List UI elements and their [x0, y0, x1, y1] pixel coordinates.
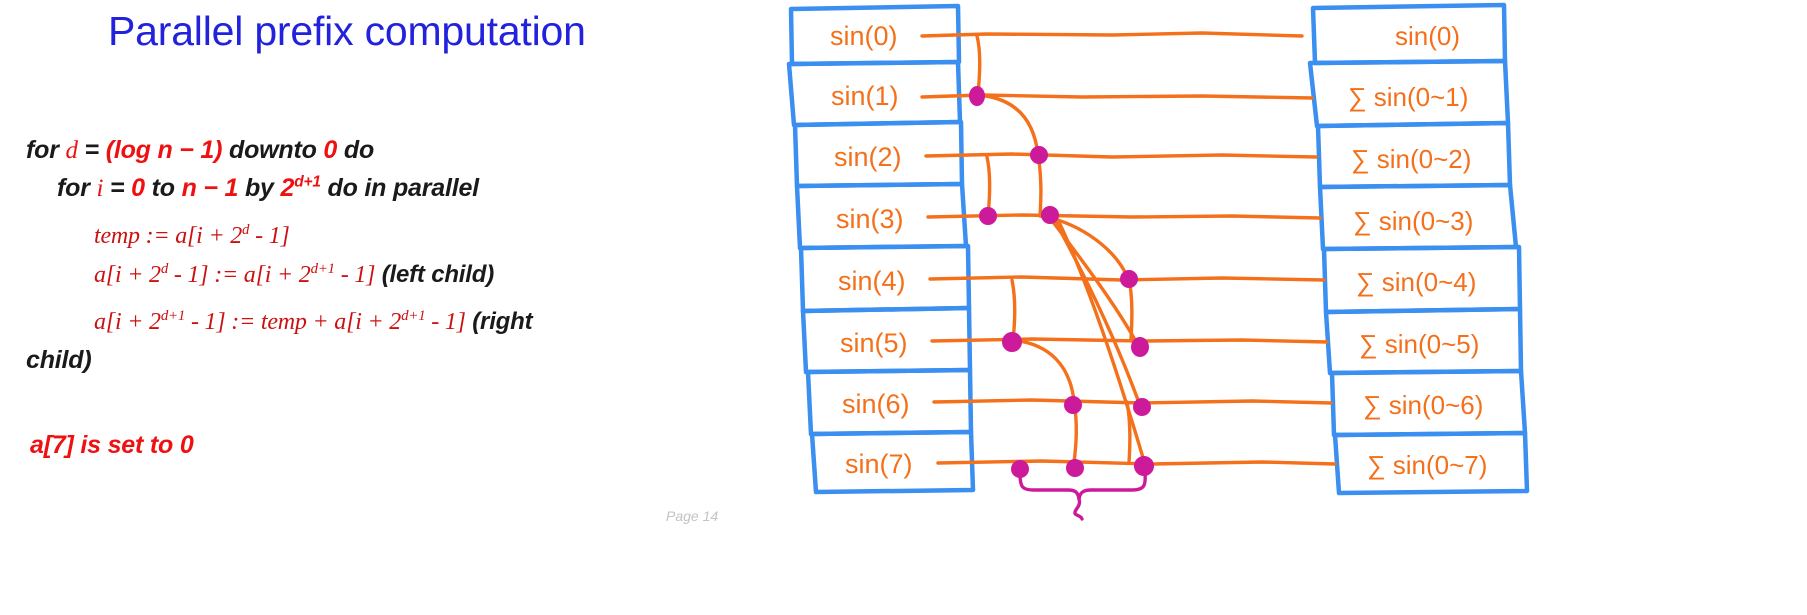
stmt-left-b: - 1] := a[i + 2 — [168, 262, 311, 288]
right-label-2: ∑ sin(0~2) — [1351, 144, 1471, 174]
page-number: Page 14 — [666, 508, 718, 524]
right-label-4: ∑ sin(0~4) — [1356, 267, 1476, 297]
right-label-5: ∑ sin(0~5) — [1359, 329, 1479, 359]
kw-downto: downto — [222, 136, 323, 164]
brace-tail — [1075, 499, 1082, 519]
pseudocode-line-7: a[7] is set to 0 — [30, 431, 194, 460]
junction-node-r6b — [1134, 399, 1150, 415]
left-label-6: sin(6) — [842, 389, 910, 419]
junction-nodes — [970, 87, 1153, 477]
magenta-brace — [1020, 473, 1145, 519]
junction-node-r5b — [1132, 338, 1148, 356]
wire-link-1to2span — [978, 95, 1038, 155]
left-label-0: sin(0) — [830, 21, 898, 51]
junction-node-r5a — [1003, 333, 1021, 351]
slide-canvas: Parallel prefix computation for d = (log… — [0, 0, 1807, 615]
kw-do-in-parallel: do in parallel — [321, 174, 479, 202]
exp-d-plus-1-a: d+1 — [294, 174, 321, 191]
kw-for: for — [26, 136, 65, 164]
left-label-1: sin(1) — [831, 81, 899, 111]
wire-link-4to5 — [1012, 280, 1015, 340]
lit-zero-1: 0 — [323, 136, 337, 164]
left-label-7: sin(7) — [845, 449, 913, 479]
pseudocode-line-2: for i = 0 to n − 1 by 2d+1 do in paralle… — [57, 174, 479, 203]
prefix-sum-diagram: sin(0) sin(1) sin(2) sin(3) sin(4) sin(5… — [782, 0, 1807, 615]
eq-2: = — [103, 174, 131, 202]
wire-link-3to4 — [1040, 216, 1127, 276]
junction-node-r6a — [1065, 397, 1081, 413]
left-label-3: sin(3) — [836, 204, 904, 234]
expr-n-minus-1: n − 1 — [182, 174, 239, 202]
stmt-left-a: a[i + 2 — [94, 262, 161, 288]
lit-two-1: 2 — [281, 174, 295, 202]
stmt-right-c: - 1] — [425, 309, 465, 335]
stmt-right-a: a[i + 2 — [94, 309, 161, 335]
lit-zero-2: 0 — [131, 174, 145, 202]
note-left-child: (left child) — [375, 261, 494, 288]
junction-node-r4a — [1121, 271, 1137, 287]
exp-d-plus-1-c: d+1 — [161, 308, 185, 324]
exp-d-plus-1-d: d+1 — [401, 308, 425, 324]
exp-d-b: d — [161, 261, 168, 277]
right-label-7: ∑ sin(0~7) — [1367, 450, 1487, 480]
right-label-3: ∑ sin(0~3) — [1353, 206, 1473, 236]
left-array-boxes — [789, 6, 973, 492]
left-label-5: sin(5) — [840, 328, 908, 358]
page-title: Parallel prefix computation — [108, 8, 586, 55]
stmt-right-b: - 1] := temp + a[i + 2 — [185, 309, 401, 335]
pseudocode-line-5: a[i + 2d+1 - 1] := temp + a[i + 2d+1 - 1… — [94, 308, 532, 336]
wire-link-5to6span — [1013, 340, 1074, 401]
right-label-0: sin(0) — [1395, 21, 1460, 51]
junction-node-r7b — [1067, 460, 1083, 476]
right-label-6: ∑ sin(0~6) — [1363, 390, 1483, 420]
pseudocode-line-3: temp := a[i + 2d - 1] — [94, 223, 290, 250]
wire-row-2 — [926, 154, 1316, 157]
junction-node-r1a — [970, 87, 984, 105]
kw-to: to — [145, 174, 182, 202]
stmt-left-c: - 1] — [335, 262, 375, 288]
wire-row-0 — [922, 33, 1302, 36]
note-right-child: (right — [466, 308, 533, 335]
wire-link-1to3 — [1038, 155, 1041, 216]
right-label-1: ∑ sin(0~1) — [1348, 82, 1468, 112]
junction-node-r3a — [980, 208, 996, 224]
brace-curve — [1020, 473, 1145, 499]
pseudocode-line-6: child) — [26, 346, 91, 375]
stmt-temp-tail: - 1] — [249, 223, 289, 249]
kw-by: by — [238, 174, 280, 202]
left-label-4: sin(4) — [838, 266, 906, 296]
kw-do-1: do — [337, 136, 374, 164]
text-panel: Parallel prefix computation for d = (log… — [0, 0, 790, 615]
expr-logn: (log n − 1) — [106, 136, 223, 164]
exp-d-plus-1-b: d+1 — [311, 261, 335, 277]
junction-node-r3b — [1042, 207, 1058, 223]
pseudocode-line-1: for d = (log n − 1) downto 0 do — [26, 136, 374, 165]
var-d: d — [65, 137, 77, 164]
pseudocode-line-4: a[i + 2d - 1] := a[i + 2d+1 - 1] (left c… — [94, 261, 494, 289]
wire-row-6 — [934, 400, 1331, 403]
left-label-2: sin(2) — [834, 142, 902, 172]
eq-1: = — [78, 136, 106, 164]
left-array-labels: sin(0) sin(1) sin(2) sin(3) sin(4) sin(5… — [830, 21, 913, 479]
stmt-temp-assign: temp := a[i + 2 — [94, 223, 242, 249]
junction-node-r2a — [1031, 147, 1047, 163]
kw-for-2: for — [57, 174, 96, 202]
